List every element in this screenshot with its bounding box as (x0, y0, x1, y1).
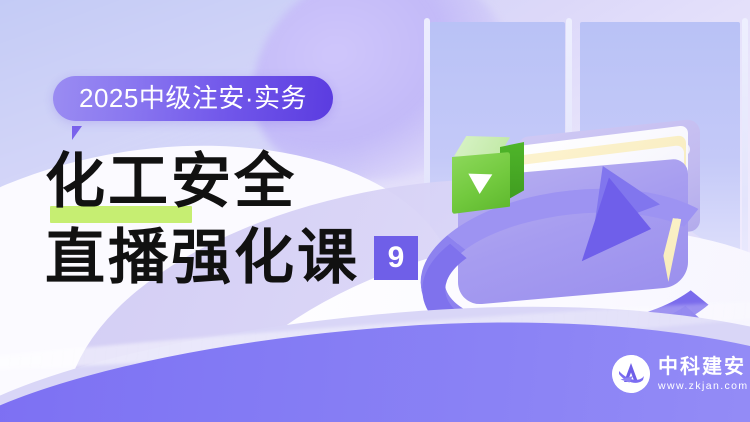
brand-logo-icon (612, 355, 650, 393)
episode-number-badge: 9 (374, 236, 418, 280)
play-triangle-icon (468, 174, 493, 195)
green-play-cube-icon (450, 136, 524, 216)
course-promo-banner: 2025中级注安·实务 化工安全 直播强化课 9 中科建安 www.zkjan.… (0, 0, 750, 422)
headline-line-1-row: 化工安全 (45, 152, 418, 212)
headline-line-2: 直播强化课 (45, 228, 360, 288)
headline-group: 化工安全 直播强化课 9 (45, 152, 418, 288)
headline-line-1: 化工安全 (45, 152, 418, 212)
pill-tail (72, 126, 89, 140)
headline-line-2-row: 直播强化课 9 (45, 228, 418, 288)
brand-url: www.zkjan.com (658, 381, 749, 392)
course-category-pill: 2025中级注安·实务 (53, 76, 333, 121)
brand-logo-text: 中科建安 www.zkjan.com (658, 356, 749, 392)
brand-logo: 中科建安 www.zkjan.com (612, 355, 749, 393)
brand-name: 中科建安 (658, 356, 749, 376)
